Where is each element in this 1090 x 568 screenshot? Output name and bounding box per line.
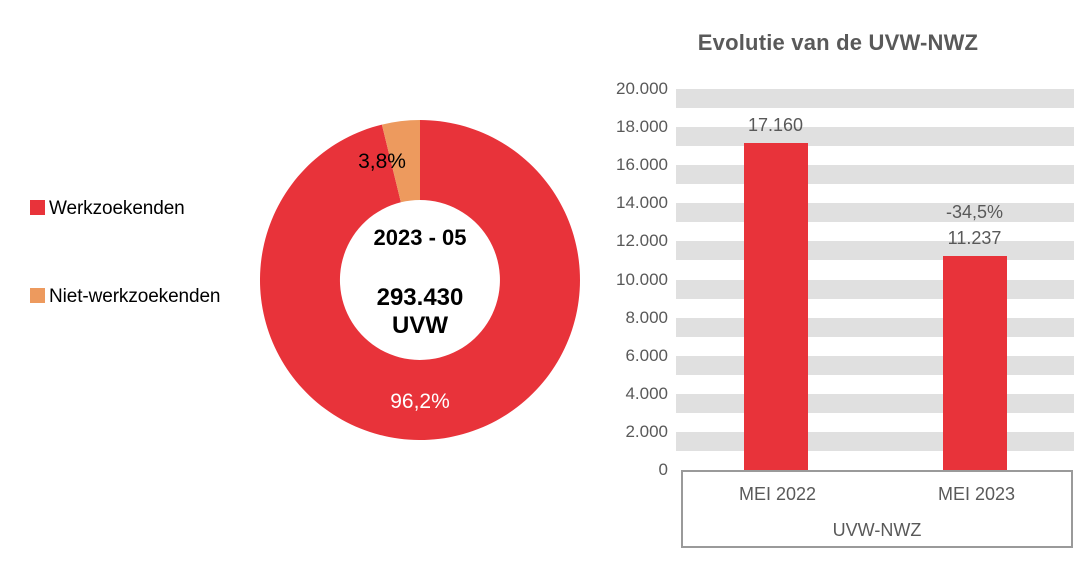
x-axis-category-label: MEI 2022: [739, 484, 816, 505]
donut-minor-percent-label: 3,8%: [358, 150, 406, 173]
y-axis-tick-label: 2.000: [596, 422, 668, 442]
y-axis-tick-label: 8.000: [596, 308, 668, 328]
grid-band: [676, 165, 1074, 184]
grid-band: [676, 394, 1074, 413]
y-axis-tick-label: 0: [596, 460, 668, 480]
y-axis-tick-label: 10.000: [596, 270, 668, 290]
category-axis-box: UVW-NWZ MEI 2022MEI 2023: [681, 470, 1073, 548]
grid-band: [676, 318, 1074, 337]
bar-value-label: 11.237: [948, 228, 1002, 249]
plot-background-stripes: [676, 89, 1074, 470]
legend-label-niet-werkzoekenden: Niet-werkzoekenden: [49, 284, 220, 310]
y-axis-tick-label: 4.000: [596, 384, 668, 404]
bar-mei-2022[interactable]: [744, 143, 808, 470]
y-axis-tick-label: 6.000: [596, 346, 668, 366]
grid-band: [676, 356, 1074, 375]
legend-item-niet-werkzoekenden[interactable]: Niet-werkzoekenden: [30, 284, 230, 310]
grid-band: [676, 241, 1074, 260]
legend-swatch-red: [30, 200, 45, 215]
grid-band: [676, 280, 1074, 299]
y-axis-tick-label: 16.000: [596, 155, 668, 175]
donut-center-value: 293.430: [377, 284, 464, 311]
y-axis-tick-label: 20.000: [596, 79, 668, 99]
y-axis-tick-label: 18.000: [596, 117, 668, 137]
grid-band: [676, 89, 1074, 108]
donut-chart: 3,8% 96,2% 2023 - 05 293.430 UVW: [240, 100, 600, 460]
bar-value-label: 17.160: [748, 115, 803, 136]
bar-chart-panel: Evolutie van de UVW-NWZ 02.0004.0006.000…: [596, 0, 1090, 568]
x-axis-title: UVW-NWZ: [683, 520, 1071, 541]
donut-legend: Werkzoekenden Niet-werkzoekenden: [30, 196, 230, 372]
legend-label-werkzoekenden: Werkzoekenden: [49, 196, 185, 222]
bar-change-annotation: -34,5%: [946, 202, 1003, 223]
donut-center-period: 2023 - 05: [374, 225, 467, 250]
donut-chart-panel: Werkzoekenden Niet-werkzoekenden 3,8% 96…: [0, 0, 600, 568]
y-axis-tick-label: 14.000: [596, 193, 668, 213]
y-axis-tick-label: 12.000: [596, 231, 668, 251]
bar-mei-2023[interactable]: [943, 256, 1007, 470]
x-axis-category-label: MEI 2023: [938, 484, 1015, 505]
legend-swatch-orange: [30, 288, 45, 303]
legend-item-werkzoekenden[interactable]: Werkzoekenden: [30, 196, 230, 222]
donut-major-percent-label: 96,2%: [390, 390, 450, 413]
donut-center-unit: UVW: [392, 312, 448, 339]
bar-chart-title: Evolutie van de UVW-NWZ: [596, 30, 1090, 56]
grid-band: [676, 127, 1074, 146]
grid-band: [676, 203, 1074, 222]
y-axis: 02.0004.0006.0008.00010.00012.00014.0001…: [596, 89, 668, 470]
grid-band: [676, 432, 1074, 451]
